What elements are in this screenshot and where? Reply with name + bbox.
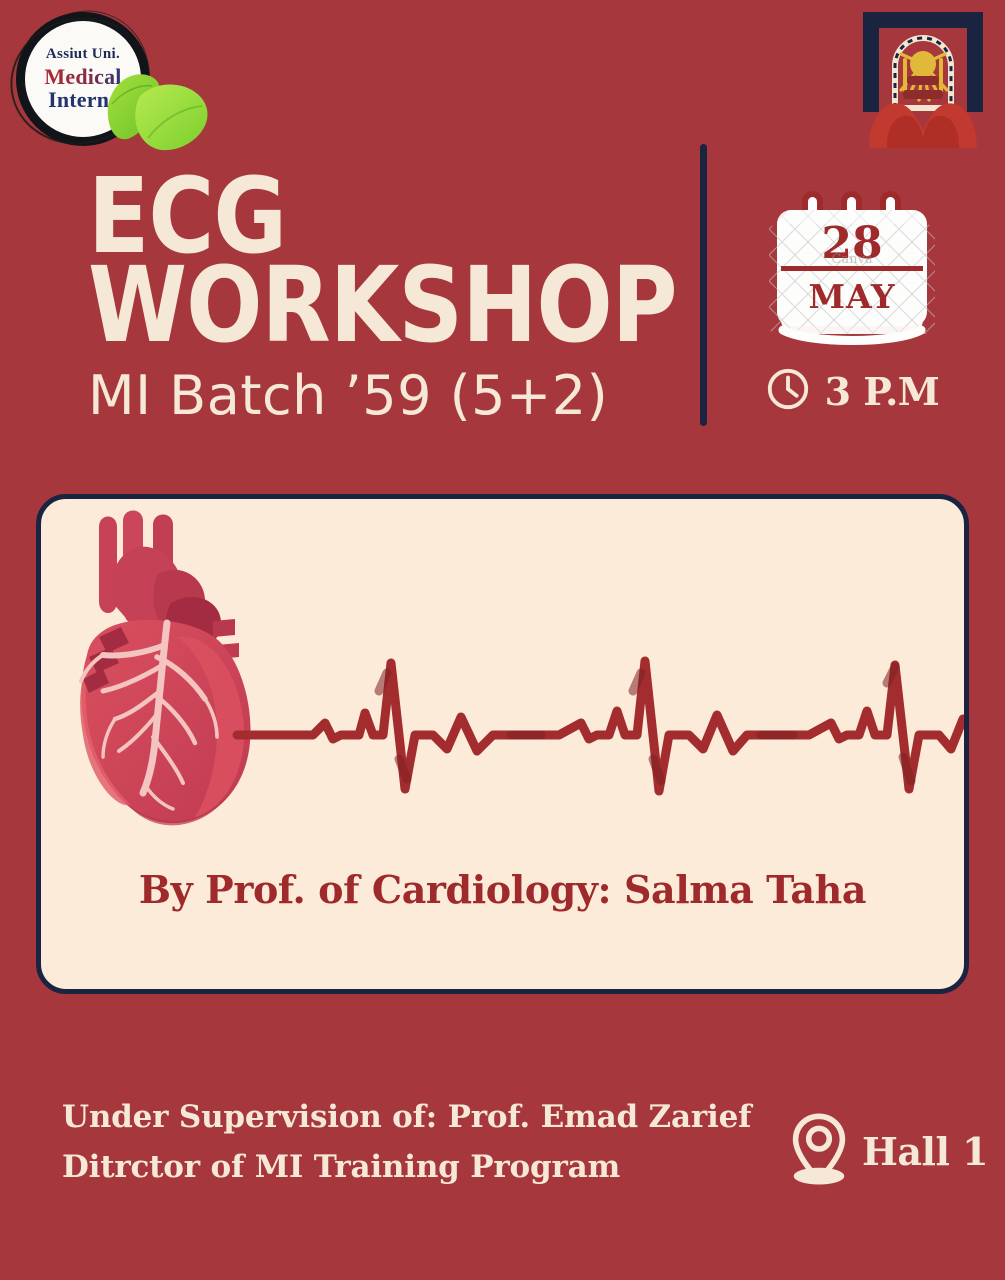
assiut-university-logo [857,4,989,148]
venue-block: Hall 1 [790,1112,988,1191]
clock-icon [765,366,811,417]
headline-block: ECG WORKSHOP MI Batch ’59 (5+2) [88,172,688,423]
location-pin-icon [790,1112,848,1191]
title-line-2: WORKSHOP [88,261,664,350]
footer-block: Under Supervision of: Prof. Emad Zarief … [62,1092,762,1192]
svg-text:Canva: Canva [831,252,872,267]
content-card: By Prof. of Cardiology: Salma Taha [36,494,969,994]
ecg-waveform-icon [41,639,964,819]
calendar-icon: 28 Canva MAY [769,190,935,350]
svg-text:MAY: MAY [808,277,895,316]
leaf-icon [104,66,214,158]
subtitle: MI Batch ’59 (5+2) [88,369,688,423]
supervision-line-1: Under Supervision of: Prof. Emad Zarief [62,1092,762,1142]
time-row: 3 P.M [752,366,952,417]
speaker-line: By Prof. of Cardiology: Salma Taha [41,867,964,912]
poster-root: Assiut Uni. Medical Interns [0,0,1005,1280]
venue-label: Hall 1 [862,1129,988,1174]
club-logo-line1: Assiut Uni. [46,47,120,63]
time-label: 3 P.M [825,373,940,411]
club-logo: Assiut Uni. Medical Interns [8,8,208,148]
vertical-divider [700,144,707,426]
datetime-block: 28 Canva MAY 3 P.M [752,190,952,417]
supervision-line-2: Ditrctor of MI Training Program [62,1142,762,1192]
